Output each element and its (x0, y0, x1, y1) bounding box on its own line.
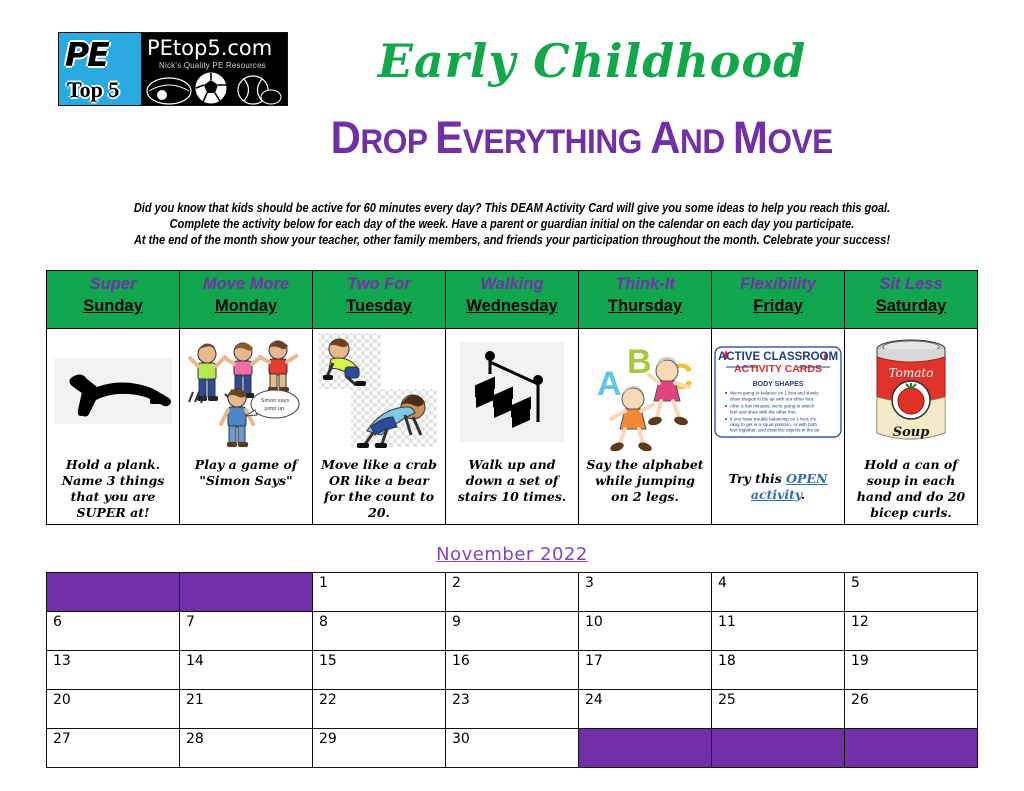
calendar-row: 13141516171819 (47, 651, 978, 690)
theme-label-monday: Move More (180, 274, 312, 295)
intro-line-2: Complete the activity below for each day… (61, 216, 962, 232)
svg-text:okay to get in a squat positio: okay to get in a squat position, or with… (730, 422, 818, 427)
activity-cell-wednesday: Walk up and down a set of stairs 10 time… (446, 329, 579, 525)
activity-caption-thursday: Say the alphabet while jumping on 2 legs… (579, 455, 711, 505)
calendar-cell-day[interactable]: 1 (313, 573, 446, 612)
calendar-cell-day[interactable]: 28 (180, 729, 313, 768)
calendar-cell-day[interactable]: 7 (180, 612, 313, 651)
calendar-cell-day[interactable]: 29 (313, 729, 446, 768)
calendar-cell-day[interactable]: 3 (579, 573, 712, 612)
calendar-cell-day[interactable]: 25 (712, 690, 845, 729)
theme-label-friday: Flexibility (712, 274, 844, 295)
calendar-cell-day[interactable]: 4 (712, 573, 845, 612)
calendar-cell-day[interactable]: 15 (313, 651, 446, 690)
calendar-cell-day[interactable]: 19 (845, 651, 978, 690)
theme-label-sunday: Super (47, 274, 179, 295)
activity-header-row: Super Sunday Move More Monday Two For Tu… (47, 271, 978, 329)
simon-says-kids-image: Simon says jump up. (180, 329, 312, 455)
card-title: ACTIVE CLASSROOM (718, 351, 838, 363)
page-header: PE Top 5 PEtop5.com Nick's Quality PE Re… (0, 0, 1024, 185)
title-letter-m: M (733, 112, 767, 163)
calendar-cell-day[interactable]: 16 (446, 651, 579, 690)
intro-line-1: Did you know that kids should be active … (61, 200, 962, 216)
title-word-nd: ND (680, 123, 733, 161)
day-label-monday: Monday (180, 295, 312, 317)
title-word-rop: ROP (360, 123, 435, 161)
calendar-cell-day[interactable]: 27 (47, 729, 180, 768)
calendar-row: 20212223242526 (47, 690, 978, 729)
calendar-title: November 2022 (0, 544, 1024, 565)
calendar-cell-day[interactable]: 24 (579, 690, 712, 729)
calendar-cell-day[interactable]: 13 (47, 651, 180, 690)
svg-text:feet together, and draw the ob: feet together, and draw the objects in t… (730, 428, 820, 433)
activity-caption-tuesday: Move like a crab OR like a bear for the … (313, 455, 445, 521)
calendar-table: 1234567891011121314151617181920212223242… (46, 572, 978, 768)
letter-a: A (597, 365, 622, 403)
svg-text:If you have trouble balancing: If you have trouble balancing on 1 foot,… (730, 417, 817, 422)
title-letter-d: D (331, 112, 361, 163)
calendar-body: 1234567891011121314151617181920212223242… (47, 573, 978, 768)
calendar-cell-day[interactable]: 18 (712, 651, 845, 690)
activity-header-monday: Move More Monday (180, 271, 313, 329)
title-word-verything: VERYTHING (463, 123, 650, 161)
calendar-row: 6789101112 (47, 612, 978, 651)
activity-table: Super Sunday Move More Monday Two For Tu… (46, 270, 978, 525)
intro-line-3: At the end of the month show your teache… (61, 232, 962, 248)
can-label-bottom: Soup (893, 425, 930, 440)
activity-header-wednesday: Walking Wednesday (446, 271, 579, 329)
activity-caption-friday: Try this OPEN activity. (712, 455, 844, 503)
calendar-cell-day[interactable]: 22 (313, 690, 446, 729)
intro-paragraph: Did you know that kids should be active … (61, 200, 962, 248)
title-letter-a: A (650, 112, 680, 163)
card-heading: BODY SHAPES (753, 381, 804, 388)
stairs-icon-image (446, 329, 578, 455)
day-label-sunday: Sunday (47, 295, 179, 317)
activity-cell-sunday: Hold a plank. Name 3 things that you are… (47, 329, 180, 525)
calendar-cell-day[interactable]: 8 (313, 612, 446, 651)
calendar-cell-blank (712, 729, 845, 768)
svg-text:jump up.: jump up. (263, 406, 286, 412)
calendar-cell-day[interactable]: 11 (712, 612, 845, 651)
activity-cell-tuesday: Move like a crab OR like a bear for the … (313, 329, 446, 525)
title-letter-e: E (435, 112, 462, 163)
calendar-cell-blank (579, 729, 712, 768)
activity-caption-monday: Play a game of "Simon Says" (180, 455, 312, 489)
svg-text:After a few minutes, we're goi: After a few minutes, we're going to swit… (730, 404, 815, 409)
calendar-cell-day[interactable]: 23 (446, 690, 579, 729)
calendar-cell-blank (47, 573, 180, 612)
activity-cell-friday: ACTIVE CLASSROOM ACTIVITY CARDS BODY SHA… (712, 329, 845, 525)
activity-header-friday: Flexibility Friday (712, 271, 845, 329)
calendar-cell-day[interactable]: 30 (446, 729, 579, 768)
active-classroom-card-image: ACTIVE CLASSROOM ACTIVITY CARDS BODY SHA… (712, 329, 844, 455)
caption-text-before: Try this (729, 471, 787, 486)
activity-header-sunday: Super Sunday (47, 271, 180, 329)
theme-label-thursday: Think-It (579, 274, 711, 295)
caption-text-after: . (801, 487, 805, 502)
calendar-cell-day[interactable]: 17 (579, 651, 712, 690)
card-subtitle: ACTIVITY CARDS (734, 363, 822, 375)
calendar-cell-day[interactable]: 9 (446, 612, 579, 651)
calendar-row: 12345 (47, 573, 978, 612)
calendar-cell-day[interactable]: 6 (47, 612, 180, 651)
theme-label-tuesday: Two For (313, 274, 445, 295)
day-label-friday: Friday (712, 295, 844, 317)
activity-caption-saturday: Hold a can of soup in each hand and do 2… (845, 455, 977, 521)
activity-header-thursday: Think-It Thursday (579, 271, 712, 329)
calendar-cell-day[interactable]: 5 (845, 573, 978, 612)
activity-caption-sunday: Hold a plank. Name 3 things that you are… (47, 455, 179, 521)
title-word-ove: OVE (767, 123, 832, 161)
activity-body-row: Hold a plank. Name 3 things that you are… (47, 329, 978, 525)
activity-cell-saturday: Tomato Soup Hold a can of soup in each h… (845, 329, 978, 525)
activity-cell-monday: Simon says jump up. Play a game of "Simo… (180, 329, 313, 525)
calendar-cell-day[interactable]: 21 (180, 690, 313, 729)
calendar-row: 27282930 (47, 729, 978, 768)
svg-text:feet and draw with the other f: feet and draw with the other foot. (730, 410, 797, 415)
svg-text:Simon says: Simon says (261, 398, 290, 404)
crab-walk-bear-crawl-image (313, 329, 445, 455)
theme-label-saturday: Sit Less (845, 274, 977, 295)
calendar-cell-blank (180, 573, 313, 612)
calendar-cell-day[interactable]: 12 (845, 612, 978, 651)
soup-can-image: Tomato Soup (845, 329, 977, 455)
calendar-cell-blank (845, 729, 978, 768)
calendar-cell-day[interactable]: 2 (446, 573, 579, 612)
theme-label-wednesday: Walking (446, 274, 578, 295)
activity-cell-thursday: A B C (579, 329, 712, 525)
svg-text:We're going to balance on 1 fo: We're going to balance on 1 foot and slo… (730, 391, 819, 396)
abc-kids-image: A B C (579, 329, 711, 455)
activity-header-tuesday: Two For Tuesday (313, 271, 446, 329)
can-label-top: Tomato (889, 366, 934, 380)
calendar-cell-day[interactable]: 26 (845, 690, 978, 729)
page-subtitle: Early Childhood (0, 34, 1024, 88)
calendar-cell-day[interactable]: 10 (579, 612, 712, 651)
svg-text:draw shapes in the air with ou: draw shapes in the air with our other fo… (730, 397, 814, 402)
day-label-tuesday: Tuesday (313, 295, 445, 317)
day-label-saturday: Saturday (845, 295, 977, 317)
plank-silhouette-image (47, 329, 179, 455)
activity-header-saturday: Sit Less Saturday (845, 271, 978, 329)
calendar-cell-day[interactable]: 20 (47, 690, 180, 729)
day-label-thursday: Thursday (579, 295, 711, 317)
calendar-cell-day[interactable]: 14 (180, 651, 313, 690)
activity-caption-wednesday: Walk up and down a set of stairs 10 time… (446, 455, 578, 505)
page-title: DROP EVERYTHING AND MOVE (36, 112, 988, 164)
day-label-wednesday: Wednesday (446, 295, 578, 317)
